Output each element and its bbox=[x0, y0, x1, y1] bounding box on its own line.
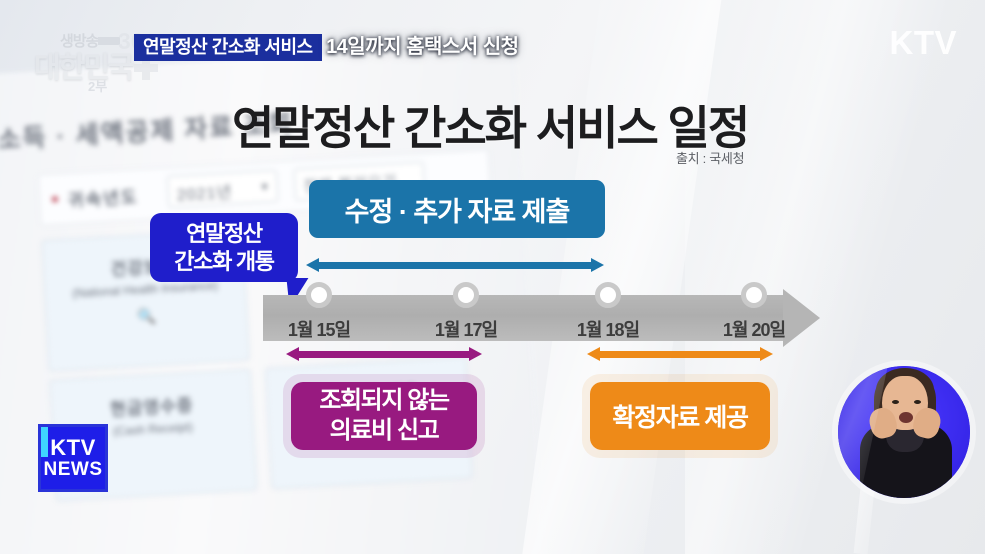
headline: 연말정산 간소화 서비스 14일까지 홈택스서 신청 bbox=[134, 33, 519, 61]
blue-label-box: 수정 · 추가 자료 제출 bbox=[309, 180, 605, 238]
callout-line2: 간소화 개통 bbox=[174, 248, 274, 276]
timeline: 1월 15일 1월 17일 1월 18일 1월 20일 bbox=[263, 295, 820, 341]
ktv-watermark: KTV bbox=[890, 24, 958, 62]
arrow-head-right-icon bbox=[760, 347, 773, 361]
signer-eye-left bbox=[892, 400, 899, 404]
timeline-date-2: 1월 17일 bbox=[435, 316, 497, 342]
signer-eye-right bbox=[914, 400, 921, 404]
bg-year-value: 2021년 bbox=[176, 184, 232, 204]
arrow-head-right-icon bbox=[469, 347, 482, 361]
program-logo: 생방송 30 대한민국 2부 bbox=[30, 28, 150, 90]
program-part: 2부 bbox=[88, 76, 107, 95]
ktv-news-logo: KTV NEWS bbox=[38, 424, 108, 492]
arrow-head-right-icon bbox=[591, 258, 604, 272]
bg-year-select: 2021년 ▾ bbox=[167, 170, 279, 208]
orange-label-text: 확정자료 제공 bbox=[612, 398, 747, 434]
ktv-news-line1: KTV bbox=[41, 435, 105, 461]
sign-language-interpreter bbox=[838, 366, 970, 498]
magenta-line2: 의료비 신고 bbox=[330, 416, 439, 446]
magenta-label-box: 조회되지 않는 의료비 신고 bbox=[291, 382, 477, 450]
orange-label-box: 확정자료 제공 bbox=[590, 382, 770, 450]
timeline-arrow-tip-icon bbox=[783, 289, 820, 347]
timeline-node-1 bbox=[306, 282, 332, 308]
callout-bubble: 연말정산 간소화 개통 bbox=[150, 213, 298, 282]
magnifier-icon: 🔍 bbox=[46, 302, 247, 331]
arrow-medical-range bbox=[286, 347, 482, 362]
arrow-final-data-range bbox=[587, 347, 773, 362]
timeline-date-4: 1월 20일 bbox=[723, 316, 785, 342]
magenta-line1: 조회되지 않는 bbox=[319, 386, 448, 416]
timeline-date-1: 1월 15일 bbox=[288, 316, 350, 342]
headline-secondary: 14일까지 홈택스서 신청 bbox=[326, 36, 518, 59]
timeline-node-2 bbox=[453, 282, 479, 308]
tv-broadcast-frame: 소득 · 세액공제 자료 조회 귀속년도 2021년 ▾ 전체 불러오기 건강보… bbox=[0, 0, 985, 554]
headline-primary: 연말정산 간소화 서비스 bbox=[134, 34, 322, 61]
required-dot-icon bbox=[52, 196, 58, 202]
signer-mouth bbox=[899, 412, 913, 423]
arrow-shaft bbox=[317, 262, 593, 269]
bg-year-label: 귀속년도 bbox=[67, 183, 139, 212]
page-title: 연말정산 간소화 서비스 일정 bbox=[232, 92, 748, 158]
arrow-shaft bbox=[297, 351, 471, 358]
timeline-node-3 bbox=[595, 282, 621, 308]
arrow-submit-range bbox=[306, 258, 604, 273]
arrow-shaft bbox=[598, 351, 762, 358]
ktv-news-line2: NEWS bbox=[41, 459, 105, 481]
blue-label-text: 수정 · 추가 자료 제출 bbox=[345, 190, 570, 229]
callout-line1: 연말정산 bbox=[186, 220, 262, 248]
source-credit: 출치 : 국세청 bbox=[676, 148, 744, 167]
program-name: 대한민국 bbox=[34, 44, 133, 86]
chevron-down-icon: ▾ bbox=[261, 179, 269, 193]
timeline-node-4 bbox=[741, 282, 767, 308]
timeline-date-3: 1월 18일 bbox=[577, 316, 639, 342]
